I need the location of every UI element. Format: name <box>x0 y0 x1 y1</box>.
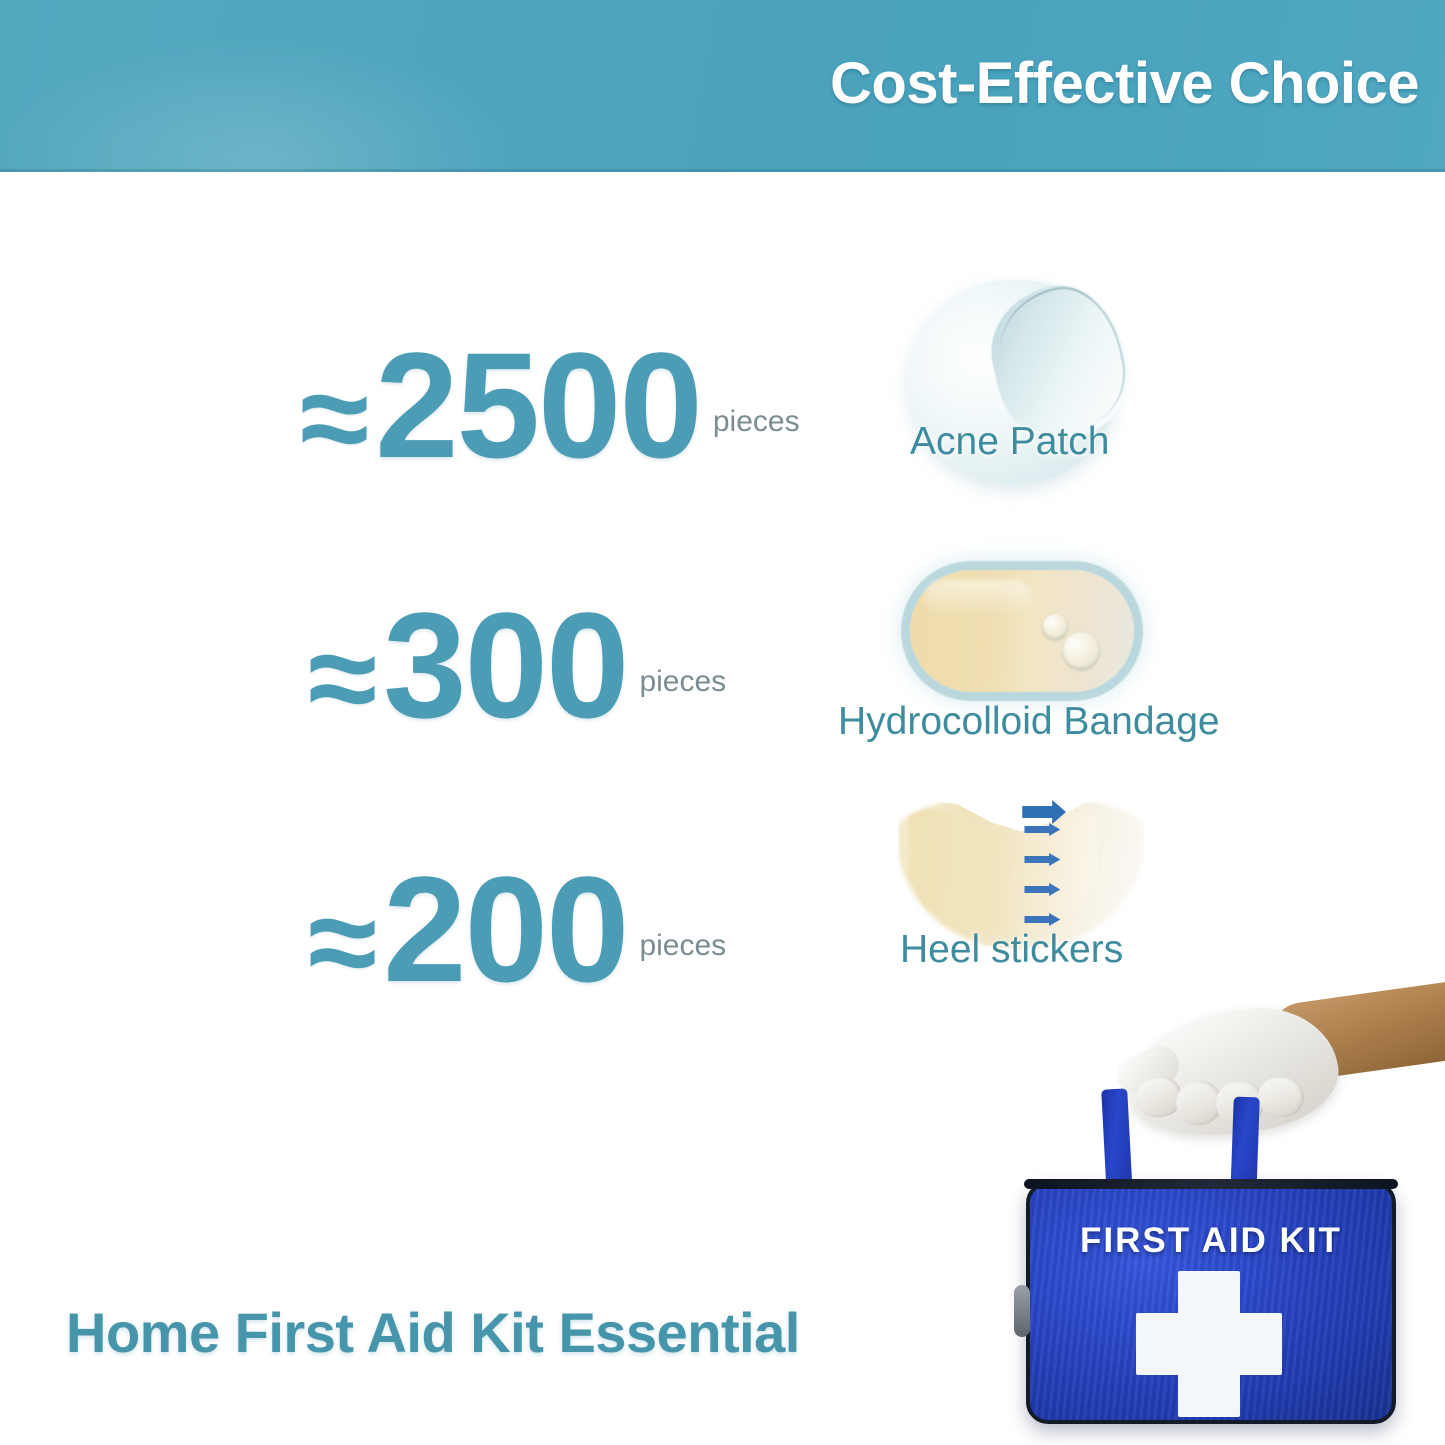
approx-sign-icon: ≈ <box>300 355 369 481</box>
product-label: Hydrocolloid Bandage <box>838 700 1220 744</box>
bag-label: FIRST AID KIT <box>1000 1221 1422 1261</box>
water-droplet-icon <box>1062 632 1100 670</box>
water-droplet-icon <box>1042 614 1068 640</box>
header-banner: Cost-Effective Choice <box>0 0 1445 172</box>
stat-row: ≈ 200 pieces Heel stickers <box>0 782 1445 1012</box>
stat-figure: ≈ 300 pieces <box>308 590 726 740</box>
stat-figure: ≈ 200 pieces <box>308 854 726 1004</box>
stat-unit: pieces <box>639 665 726 699</box>
product-infographic: Cost-Effective Choice ≈ 2500 pieces Acne… <box>0 0 1445 1445</box>
bag-zipper-pull <box>1014 1285 1030 1337</box>
bandage-sheen-icon <box>924 580 1032 616</box>
stat-count: 300 <box>383 590 627 740</box>
product-label: Acne Patch <box>910 420 1109 464</box>
stat-figure: ≈ 2500 pieces <box>300 330 800 480</box>
product-hydrocolloid-bandage: Hydrocolloid Bandage <box>890 562 1240 752</box>
approx-sign-icon: ≈ <box>308 615 377 741</box>
medical-cross-icon <box>1136 1313 1282 1375</box>
product-acne-patch: Acne Patch <box>898 268 1158 498</box>
stat-count: 2500 <box>375 330 701 480</box>
stat-count: 200 <box>383 854 627 1004</box>
glove-finger <box>1258 1077 1304 1117</box>
approx-sign-icon: ≈ <box>308 879 377 1005</box>
first-aid-kit-scene: FIRST AID KIT <box>1000 985 1445 1445</box>
product-label: Heel stickers <box>900 928 1123 972</box>
footer-tagline: Home First Aid Kit Essential <box>66 1300 800 1365</box>
stat-row: ≈ 2500 pieces Acne Patch <box>0 258 1445 488</box>
page-title: Cost-Effective Choice <box>830 50 1419 117</box>
product-heel-stickers: Heel stickers <box>880 790 1180 1005</box>
stat-unit: pieces <box>639 929 726 963</box>
arrow-right-icon-group <box>1020 798 1084 948</box>
stat-unit: pieces <box>713 405 800 439</box>
stat-row: ≈ 300 pieces Hydrocolloid Bandage <box>0 520 1445 750</box>
bag-zipper <box>1024 1179 1398 1189</box>
